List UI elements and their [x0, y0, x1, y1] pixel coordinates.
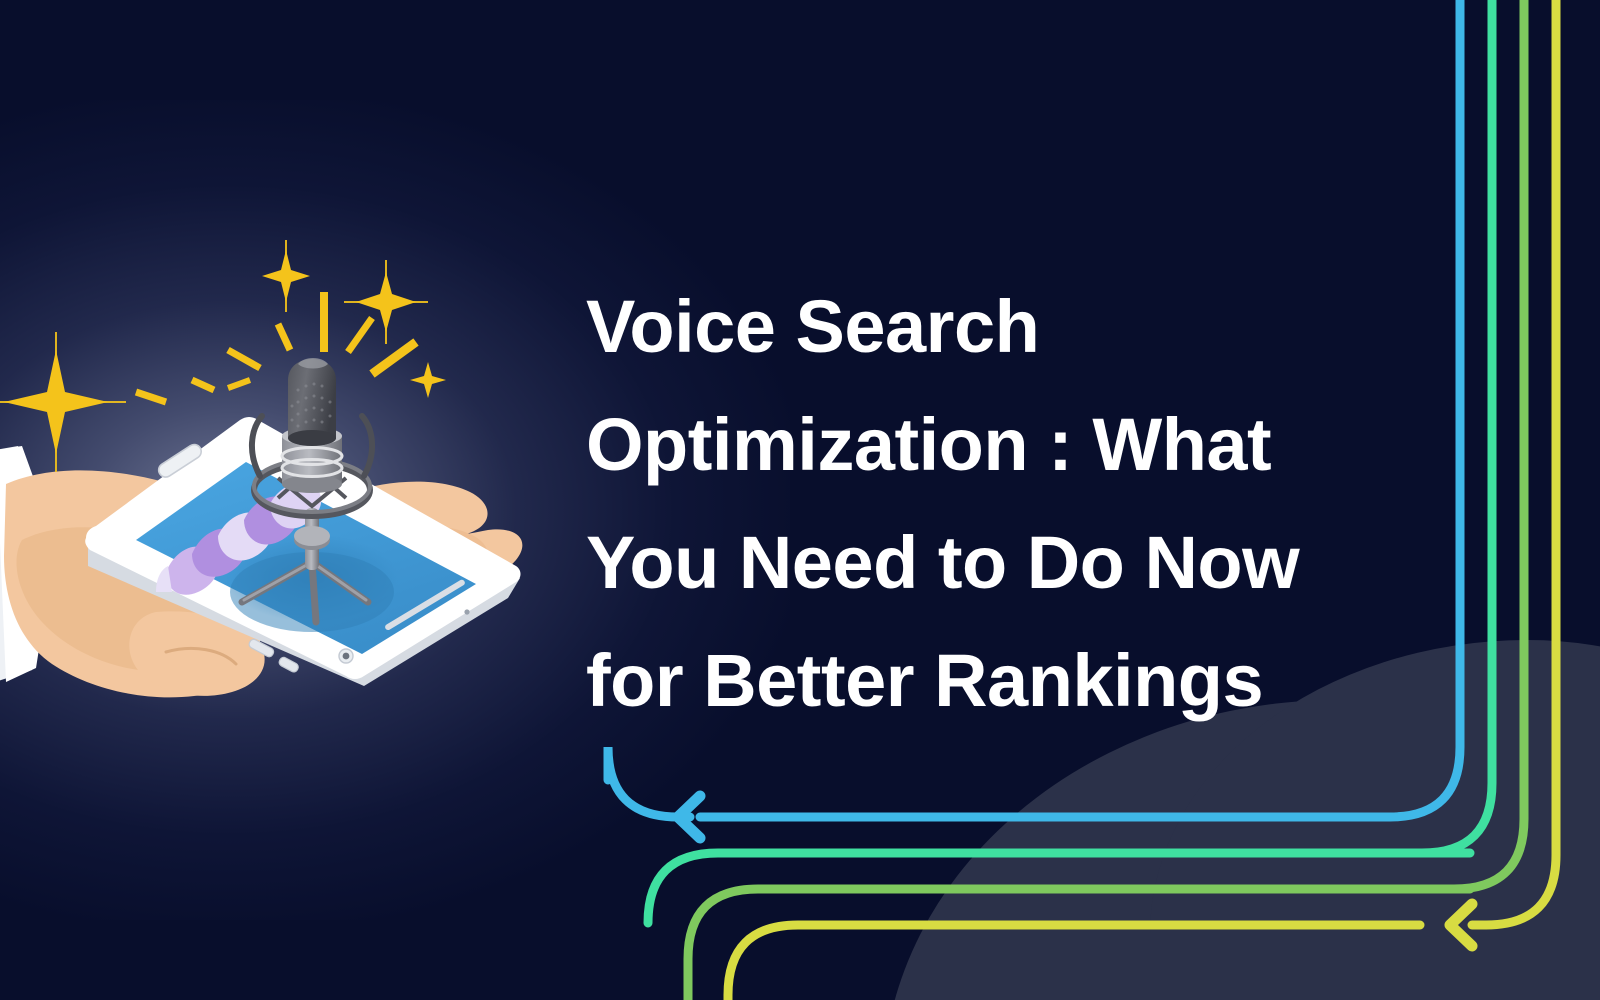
headline-line-2: Optimization : What — [586, 386, 1426, 504]
page-title: Voice Search Optimization : What You Nee… — [586, 268, 1426, 740]
headline-line-3: You Need to Do Now — [586, 504, 1426, 622]
headline-line-1: Voice Search — [586, 268, 1426, 386]
illustration-voice-search — [0, 240, 560, 760]
voice-search-banner: Voice Search Optimization : What You Nee… — [0, 0, 1600, 1000]
headline-line-4: for Better Rankings — [586, 622, 1426, 740]
